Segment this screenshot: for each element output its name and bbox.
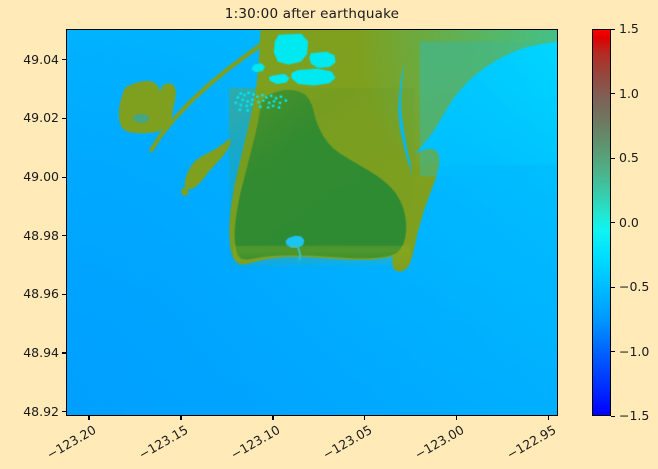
x-tick-label: −122.95 <box>497 422 558 466</box>
colorbar-tick-label: 1.0 <box>619 86 639 101</box>
tsunami-heatmap-canvas <box>67 30 557 415</box>
colorbar-tick-label: 1.5 <box>619 21 639 36</box>
x-tick-mark <box>272 416 273 420</box>
colorbar-gradient <box>592 29 611 416</box>
colorbar-tick-label: 0.0 <box>619 215 639 230</box>
colorbar-tick-mark <box>611 29 615 30</box>
colorbar-tick-mark <box>611 416 615 417</box>
y-tick-label: 48.92 <box>23 404 66 419</box>
x-tick-mark <box>548 416 549 420</box>
y-tick-label: 49.02 <box>23 110 66 125</box>
y-tick-label: 49.00 <box>23 169 66 184</box>
x-tick-label: −123.00 <box>405 422 466 466</box>
x-tick-label: −123.20 <box>37 422 98 466</box>
y-tick-label: 48.98 <box>23 228 66 243</box>
colorbar-tick-mark <box>611 351 615 352</box>
colorbar-tick-mark <box>611 93 615 94</box>
x-tick-label: −123.10 <box>221 422 282 466</box>
x-tick-label: −123.05 <box>313 422 374 466</box>
plot-title: 1:30:00 after earthquake <box>66 6 558 22</box>
colorbar-tick-mark <box>611 158 615 159</box>
x-tick-label: −123.15 <box>129 422 190 466</box>
colorbar-tick-mark <box>611 222 615 223</box>
colorbar[interactable]: −1.5−1.0−0.50.00.51.01.5 <box>592 29 611 416</box>
colorbar-tick-mark <box>611 287 615 288</box>
colorbar-tick-label: 0.5 <box>619 150 639 165</box>
x-tick-mark <box>88 416 89 420</box>
colorbar-tick-label: −1.5 <box>619 408 649 423</box>
y-tick-label: 48.96 <box>23 286 66 301</box>
map-axes[interactable] <box>66 29 558 416</box>
colorbar-tick-label: −1.0 <box>619 344 649 359</box>
colorbar-tick-label: −0.5 <box>619 279 649 294</box>
x-tick-mark <box>456 416 457 420</box>
y-tick-label: 48.94 <box>23 345 66 360</box>
x-tick-mark <box>364 416 365 420</box>
x-tick-mark <box>180 416 181 420</box>
y-tick-label: 49.04 <box>23 52 66 67</box>
matplotlib-figure: 1:30:00 after earthquake 48.9248.9448.96… <box>0 0 658 469</box>
